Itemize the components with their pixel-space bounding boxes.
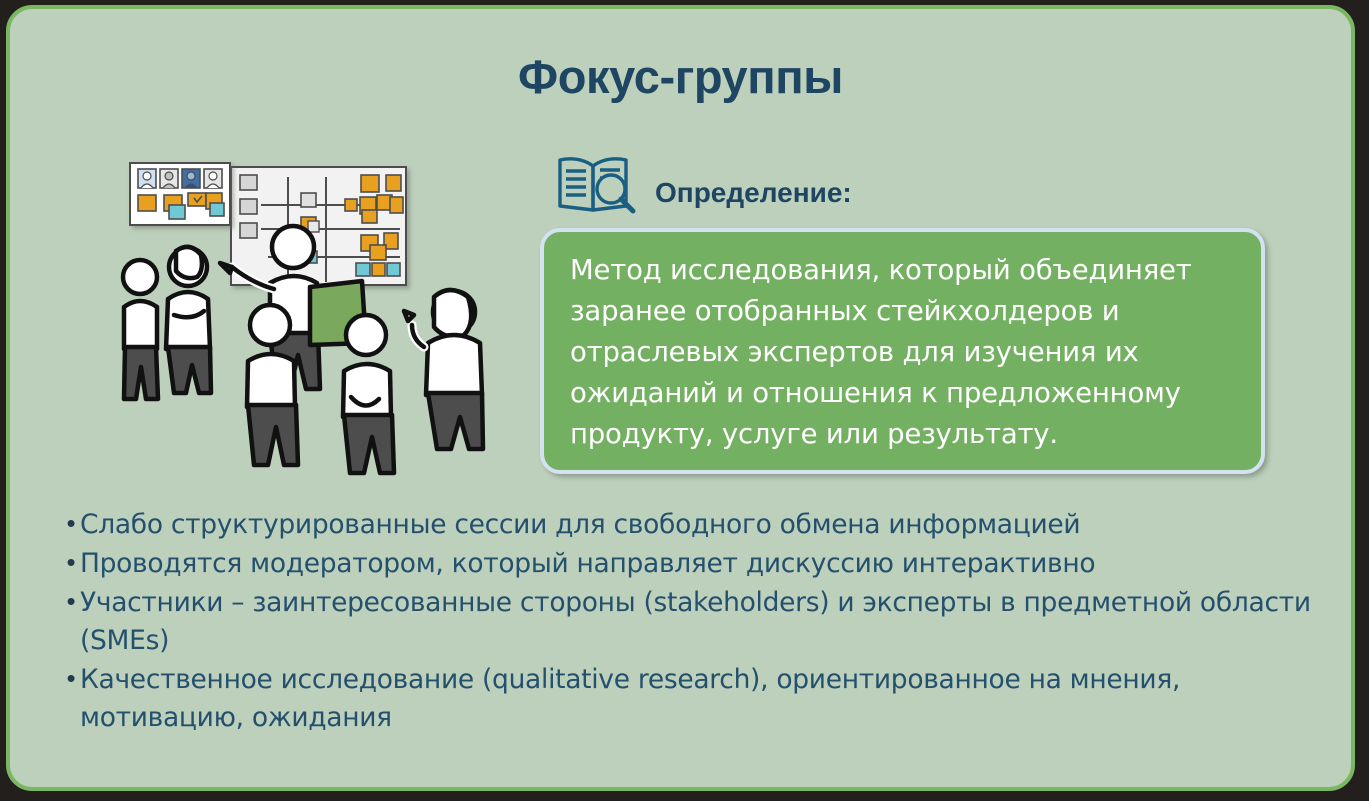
page-title: Фокус-группы bbox=[10, 49, 1351, 104]
bullet-marker-icon: • bbox=[62, 582, 80, 620]
list-item: • Качественное исследование (qualitative… bbox=[62, 661, 1352, 737]
definition-text: Метод исследования, который объединяет з… bbox=[570, 250, 1235, 455]
list-item-label: Проводятся модератором, который направля… bbox=[80, 545, 1095, 583]
list-item-label: Участники – заинтересованные стороны (st… bbox=[80, 584, 1335, 660]
slide-outer-frame: Фокус-группы bbox=[0, 0, 1369, 801]
bullet-list: • Слабо структурированные сессии для сво… bbox=[62, 506, 1352, 738]
people-group bbox=[123, 226, 483, 473]
focus-group-workshop-illustration bbox=[118, 147, 518, 487]
list-item: • Участники – заинтересованные стороны (… bbox=[62, 584, 1352, 660]
book-magnifier-icon bbox=[555, 152, 641, 214]
list-item: • Слабо структурированные сессии для сво… bbox=[62, 506, 1352, 544]
definition-heading: Определение: bbox=[555, 152, 852, 214]
slide-canvas: Фокус-группы bbox=[6, 5, 1355, 791]
bullet-marker-icon: • bbox=[62, 543, 80, 581]
list-item-label: Слабо структурированные сессии для свобо… bbox=[80, 506, 1080, 544]
bullet-marker-icon: • bbox=[62, 659, 80, 697]
definition-box: Метод исследования, который объединяет з… bbox=[540, 228, 1265, 474]
list-item: • Проводятся модератором, который направ… bbox=[62, 545, 1352, 583]
list-item-label: Качественное исследование (qualitative r… bbox=[80, 661, 1335, 737]
definition-heading-label: Определение: bbox=[655, 177, 852, 209]
bullet-marker-icon: • bbox=[62, 504, 80, 542]
